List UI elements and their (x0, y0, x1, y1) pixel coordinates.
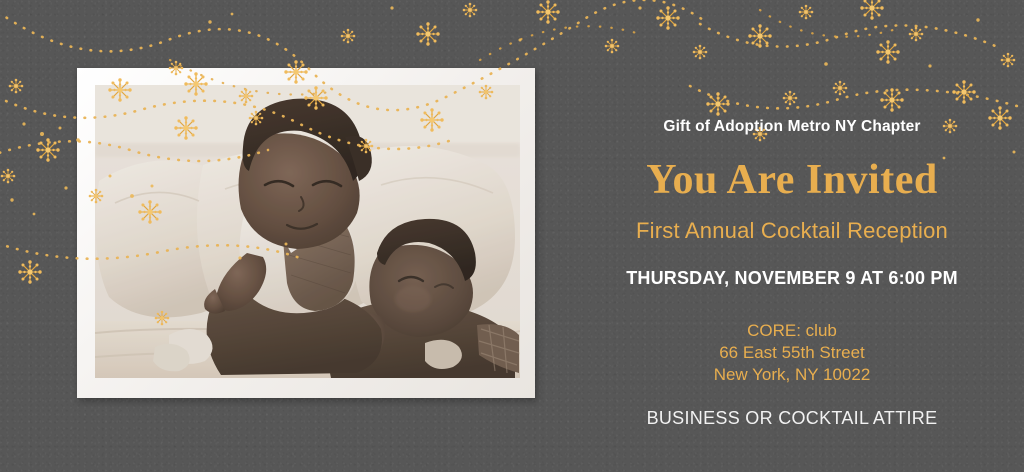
photo-babies-on-bed (95, 85, 520, 378)
organization-name: Gift of Adoption Metro NY Chapter (560, 118, 1024, 136)
event-subtitle: First Annual Cocktail Reception (560, 218, 1024, 244)
dress-code: BUSINESS OR COCKTAIL ATTIRE (560, 408, 1024, 429)
venue-city-state-zip: New York, NY 10022 (560, 364, 1024, 386)
page-title: You Are Invited (560, 158, 1024, 202)
event-datetime: THURSDAY, NOVEMBER 9 AT 6:00 PM (560, 268, 1024, 289)
invitation-text-column: Gift of Adoption Metro NY Chapter You Ar… (560, 0, 1024, 472)
venue-name: CORE: club (560, 320, 1024, 342)
venue-block: CORE: club 66 East 55th Street New York,… (560, 320, 1024, 386)
venue-street: 66 East 55th Street (560, 342, 1024, 364)
photo-frame (77, 68, 535, 398)
invitation-card: Gift of Adoption Metro NY Chapter You Ar… (0, 0, 1024, 472)
